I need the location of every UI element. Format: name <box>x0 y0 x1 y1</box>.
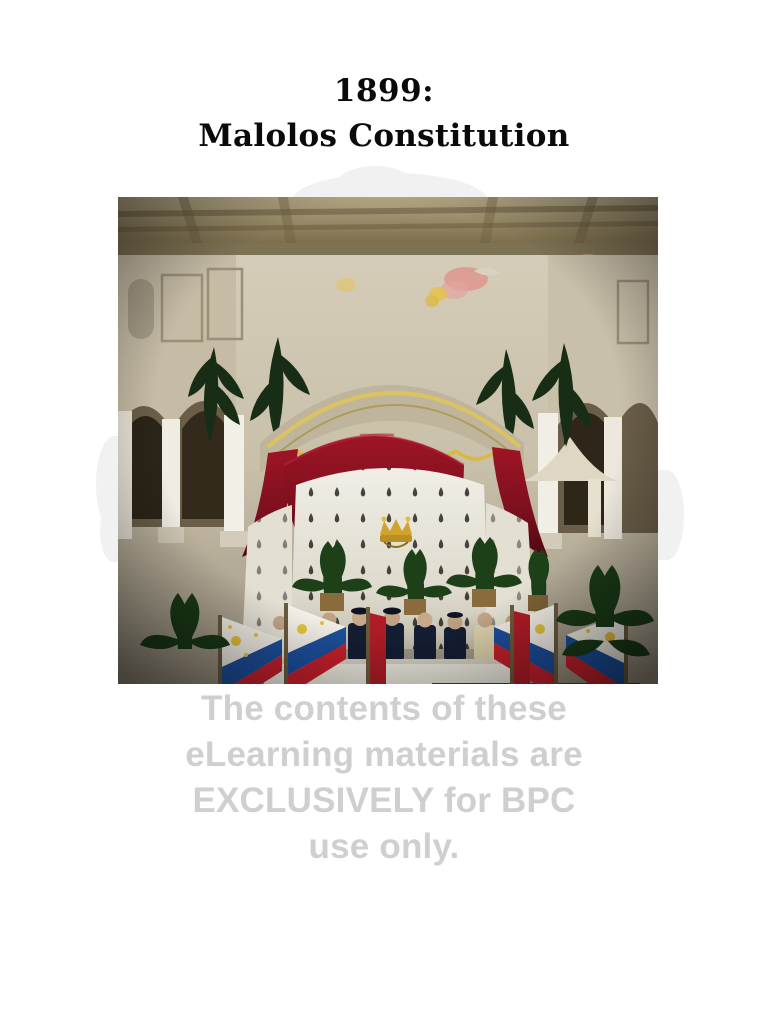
watermark-line-3: EXCLUSIVELY for BPC <box>0 778 768 824</box>
title-year: 1899: <box>0 76 768 107</box>
watermark-notice: The contents of these eLearning material… <box>0 686 768 870</box>
title-subject: Malolos Constitution <box>0 121 768 152</box>
document-page: 1899: Malolos Constitution <box>0 0 768 1024</box>
page-title: 1899: Malolos Constitution <box>0 76 768 152</box>
malolos-constitution-photo <box>118 197 658 684</box>
watermark-line-2: eLearning materials are <box>0 732 768 778</box>
photo-illustration <box>118 197 658 684</box>
watermark-line-4: use only. <box>0 824 768 870</box>
watermark-blob-top-peak <box>330 166 420 196</box>
watermark-line-1: The contents of these <box>0 686 768 732</box>
